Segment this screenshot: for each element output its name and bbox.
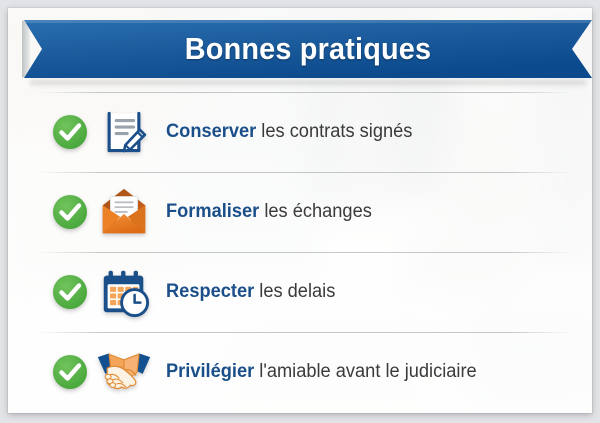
- document-pencil-icon: [96, 104, 152, 160]
- check-circle-icon: [52, 194, 88, 230]
- calendar-clock-icon: [96, 264, 152, 320]
- handshake-icon: [96, 344, 152, 400]
- check-circle-icon: [52, 354, 88, 390]
- ribbon-shadow: [30, 80, 586, 88]
- page-title: Bonnes pratiques: [36, 18, 579, 80]
- list-item-text: les échanges: [259, 201, 372, 222]
- title-ribbon: Bonnes pratiques: [16, 18, 592, 90]
- check-circle-icon: [52, 114, 88, 150]
- infographic-card: Bonnes pratiques: [0, 0, 600, 423]
- check-circle-icon: [52, 274, 88, 310]
- list-item-label: Respecter les delais: [166, 281, 335, 303]
- list-item: Formaliser les échanges: [8, 172, 592, 252]
- list-item-label: Conserver les contrats signés: [166, 121, 412, 143]
- open-envelope-icon: [96, 184, 152, 240]
- list-item: Privilégier l'amiable avant le judiciair…: [8, 332, 592, 412]
- row-divider: [38, 332, 572, 333]
- list-item: Conserver les contrats signés: [8, 92, 592, 172]
- list-item-text: l'amiable avant le judiciaire: [254, 361, 476, 382]
- list-item-label: Formaliser les échanges: [166, 201, 372, 223]
- list-item-label: Privilégier l'amiable avant le judiciair…: [166, 361, 477, 383]
- list-item-text: les contrats signés: [256, 121, 412, 142]
- card-surface: Bonnes pratiques: [8, 8, 592, 413]
- row-divider: [38, 172, 572, 173]
- list-item: Respecter les delais: [8, 252, 592, 332]
- practices-list: Conserver les contrats signés: [8, 92, 592, 413]
- row-divider: [38, 252, 572, 253]
- row-divider: [38, 92, 572, 93]
- list-item-keyword: Conserver: [166, 121, 256, 142]
- list-item-text: les delais: [254, 281, 335, 302]
- list-item-keyword: Privilégier: [166, 361, 254, 382]
- list-item-keyword: Formaliser: [166, 201, 259, 222]
- list-item-keyword: Respecter: [166, 281, 254, 302]
